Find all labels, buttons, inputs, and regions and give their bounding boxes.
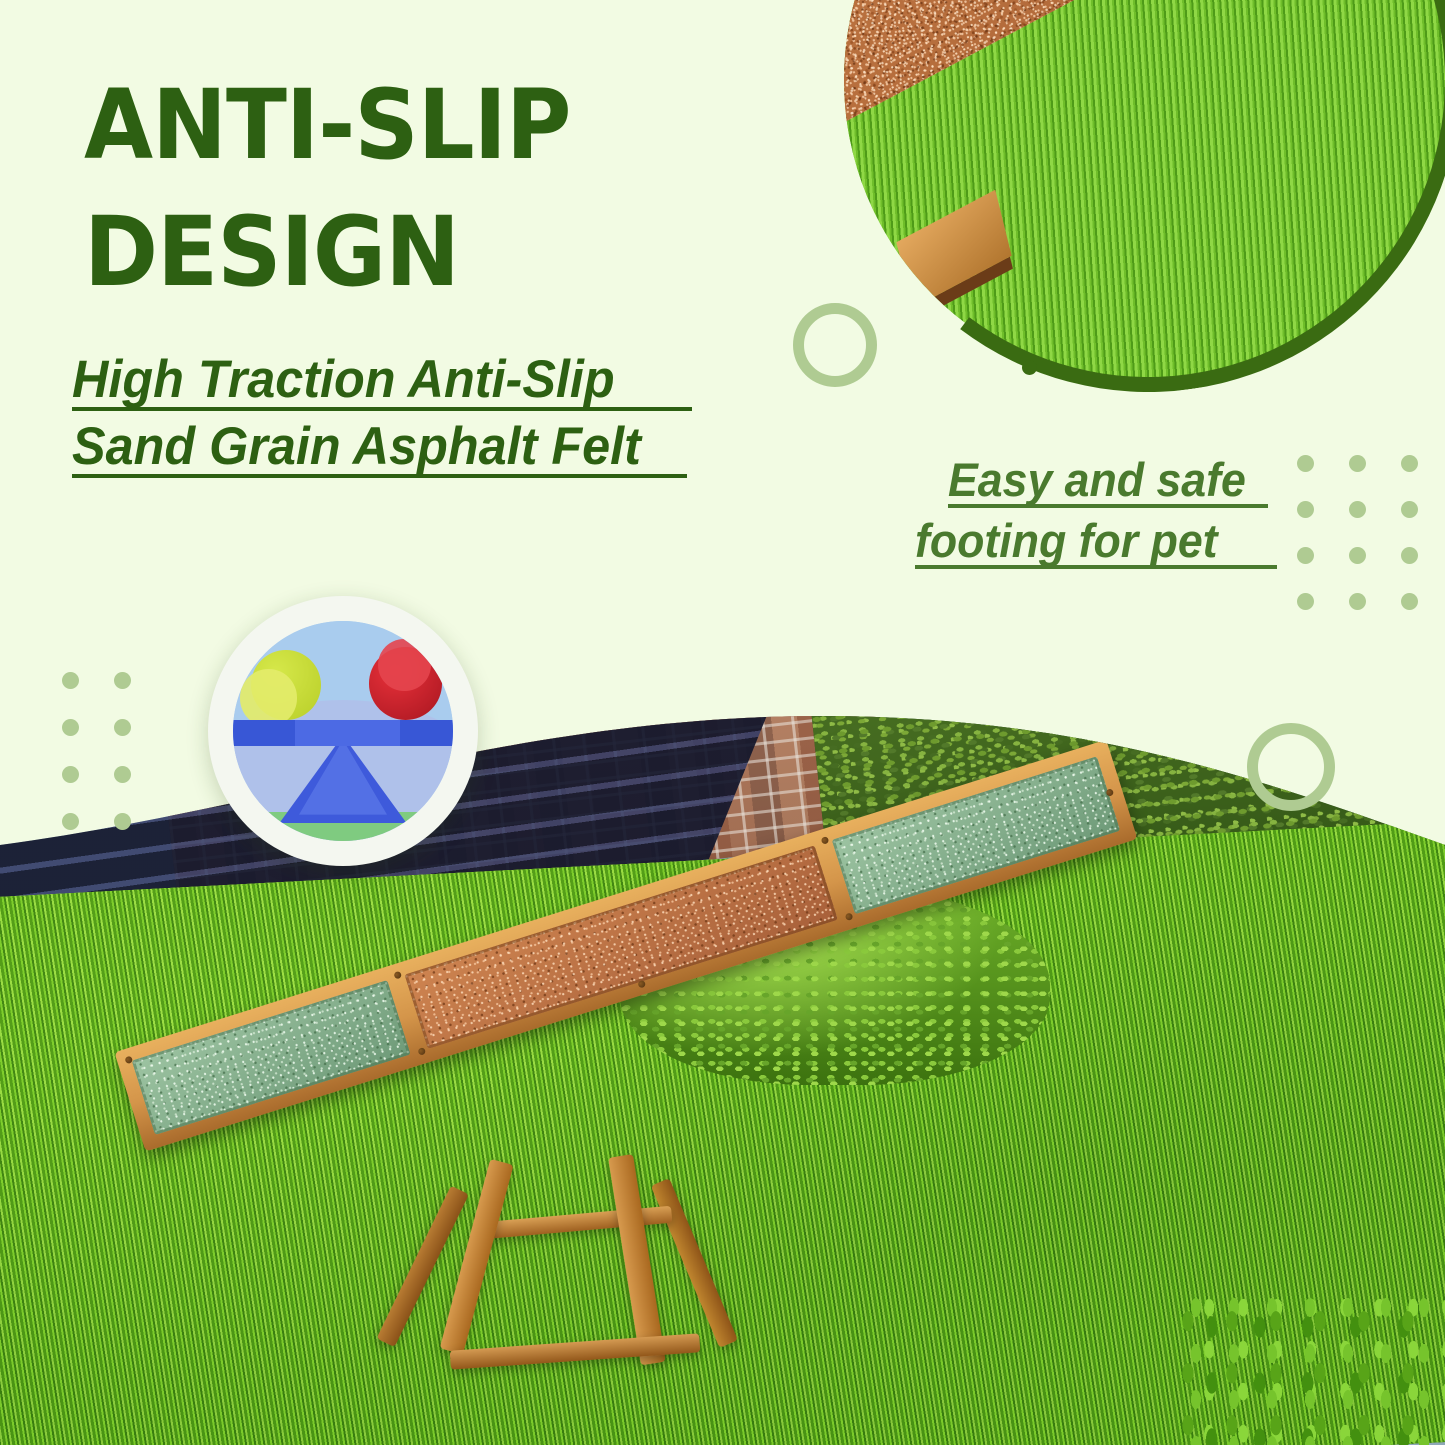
page-title: ANTI-SLIP DESIGN — [84, 62, 661, 315]
subtitle-line-2-text: Sand Grain Asphalt Felt — [72, 419, 641, 475]
badge-ball-red-highlight — [378, 639, 431, 692]
side-copy-line-2: footing for pet — [915, 516, 1315, 566]
decorative-dot-grid-icon — [1297, 455, 1445, 639]
foreground-plants — [1180, 1290, 1445, 1445]
seesaw-leg-back-right — [651, 1178, 738, 1348]
side-copy-line-1: Easy and safe — [915, 455, 1315, 505]
screw — [821, 836, 830, 845]
subtitle-line-1-text: High Traction Anti-Slip — [72, 352, 615, 408]
subtitle-underline — [72, 407, 692, 411]
infographic-canvas: ANTI-SLIP DESIGN High Traction Anti-Slip… — [0, 0, 1445, 1445]
anti-slip-panel-left — [132, 980, 411, 1135]
decorative-ring-icon — [1247, 723, 1335, 811]
side-copy-line-2-text: footing for pet — [915, 516, 1218, 566]
balance-seesaw-icon-art — [233, 621, 453, 841]
screw — [393, 971, 402, 980]
felt-closeup-inset — [836, 0, 1445, 392]
side-copy-underline — [915, 565, 1277, 569]
subtitle: High Traction Anti-Slip Sand Grain Aspha… — [72, 352, 732, 486]
subtitle-line-1: High Traction Anti-Slip — [72, 352, 732, 408]
decorative-ring-icon — [793, 303, 877, 387]
balance-seesaw-icon — [208, 596, 478, 866]
side-copy-line-1-text: Easy and safe — [948, 455, 1246, 505]
screw — [637, 980, 646, 989]
badge-plank-highlight — [295, 720, 401, 746]
inset-green-arc-cap — [1022, 360, 1037, 375]
side-copy-underline — [948, 504, 1268, 508]
badge-ball-yellow-highlight — [240, 669, 297, 726]
side-copy: Easy and safe footing for pet — [915, 455, 1315, 577]
decorative-dot-grid-icon — [62, 672, 166, 860]
subtitle-line-2: Sand Grain Asphalt Felt — [72, 419, 732, 475]
screw — [417, 1047, 426, 1056]
pet-seesaw-product — [130, 890, 1190, 1360]
subtitle-underline — [72, 474, 687, 478]
screw — [845, 912, 854, 921]
